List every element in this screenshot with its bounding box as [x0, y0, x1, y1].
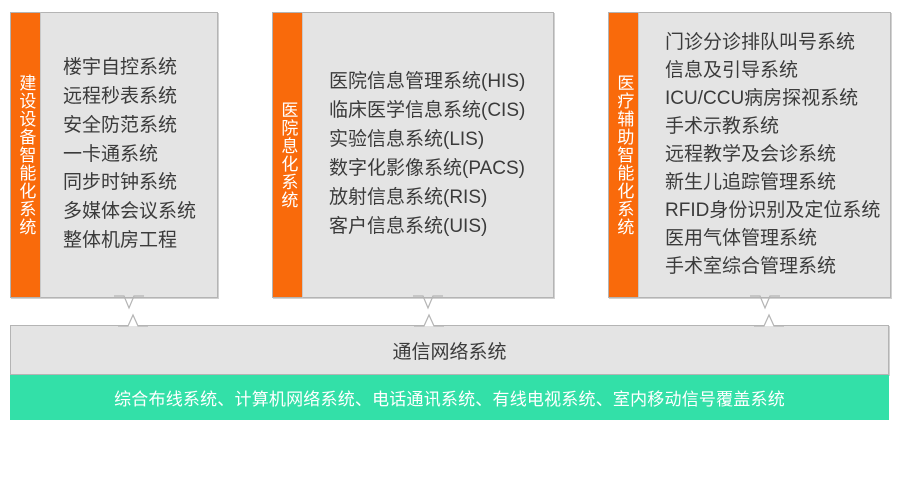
- connector-notch-icon: [413, 296, 443, 311]
- connector-notch-icon: [750, 296, 780, 311]
- connector-peak-icon: [118, 313, 148, 327]
- system-list: 楼宇自控系统 远程秒表系统 安全防范系统 一卡通系统 同步时钟系统 多媒体会议系…: [41, 54, 217, 256]
- network-system-bar[interactable]: 通信网络系统: [10, 325, 889, 375]
- list-item: 新生儿追踪管理系统: [665, 169, 880, 197]
- list-item: 多媒体会议系统: [63, 198, 207, 227]
- column-tab-label: 医院息化系统: [278, 101, 298, 209]
- system-list: 门诊分诊排队叫号系统 信息及引导系统 ICU/CCU病房探视系统 手术示教系统 …: [639, 29, 890, 280]
- category-column-construction-equipment[interactable]: 建设设备智能化系统 楼宇自控系统 远程秒表系统 安全防范系统 一卡通系统 同步时…: [10, 12, 218, 298]
- system-list: 医院信息管理系统(HIS) 临床医学信息系统(CIS) 实验信息系统(LIS) …: [303, 68, 553, 241]
- list-item: 远程教学及会诊系统: [665, 141, 880, 169]
- list-item: 远程秒表系统: [63, 83, 207, 112]
- column-tab-label: 建设设备智能化系统: [16, 74, 36, 236]
- connector-peak-icon: [414, 313, 444, 327]
- list-item: 手术室综合管理系统: [665, 253, 880, 281]
- list-item: 整体机房工程: [63, 227, 207, 256]
- column-body-medical-auxiliary: 门诊分诊排队叫号系统 信息及引导系统 ICU/CCU病房探视系统 手术示教系统 …: [638, 12, 891, 298]
- column-body-hospital-informatization: 医院信息管理系统(HIS) 临床医学信息系统(CIS) 实验信息系统(LIS) …: [302, 12, 554, 298]
- column-tab-medical-auxiliary[interactable]: 医疗辅助智能化系统: [608, 12, 638, 298]
- list-item: 门诊分诊排队叫号系统: [665, 29, 880, 57]
- list-item: 一卡通系统: [63, 141, 207, 170]
- column-tab-construction-equipment[interactable]: 建设设备智能化系统: [10, 12, 40, 298]
- list-item: 数字化影像系统(PACS): [329, 155, 543, 184]
- system-architecture-diagram: 建设设备智能化系统 楼宇自控系统 远程秒表系统 安全防范系统 一卡通系统 同步时…: [0, 0, 900, 477]
- list-item: 楼宇自控系统: [63, 54, 207, 83]
- list-item: 安全防范系统: [63, 112, 207, 141]
- list-item: RFID身份识别及定位系统: [665, 197, 880, 225]
- list-item: 临床医学信息系统(CIS): [329, 97, 543, 126]
- category-column-medical-auxiliary[interactable]: 医疗辅助智能化系统 门诊分诊排队叫号系统 信息及引导系统 ICU/CCU病房探视…: [608, 12, 889, 298]
- list-item: 放射信息系统(RIS): [329, 184, 543, 213]
- network-system-label: 通信网络系统: [392, 337, 506, 364]
- list-item: 手术示教系统: [665, 113, 880, 141]
- list-item: ICU/CCU病房探视系统: [665, 85, 880, 113]
- infrastructure-systems-label: 综合布线系统、计算机网络系统、电话通讯系统、有线电视系统、室内移动信号覆盖系统: [114, 385, 785, 410]
- connector-peak-icon: [754, 313, 784, 327]
- list-item: 实验信息系统(LIS): [329, 126, 543, 155]
- list-item: 客户信息系统(UIS): [329, 213, 543, 242]
- list-item: 同步时钟系统: [63, 169, 207, 198]
- category-column-hospital-informatization[interactable]: 医院息化系统 医院信息管理系统(HIS) 临床医学信息系统(CIS) 实验信息系…: [272, 12, 554, 298]
- infrastructure-systems-bar[interactable]: 综合布线系统、计算机网络系统、电话通讯系统、有线电视系统、室内移动信号覆盖系统: [10, 375, 889, 420]
- column-tab-label: 医疗辅助智能化系统: [614, 74, 634, 236]
- connector-notch-icon: [114, 296, 144, 311]
- list-item: 医用气体管理系统: [665, 225, 880, 253]
- list-item: 医院信息管理系统(HIS): [329, 68, 543, 97]
- column-tab-hospital-informatization[interactable]: 医院息化系统: [272, 12, 302, 298]
- list-item: 信息及引导系统: [665, 57, 880, 85]
- column-body-construction-equipment: 楼宇自控系统 远程秒表系统 安全防范系统 一卡通系统 同步时钟系统 多媒体会议系…: [40, 12, 218, 298]
